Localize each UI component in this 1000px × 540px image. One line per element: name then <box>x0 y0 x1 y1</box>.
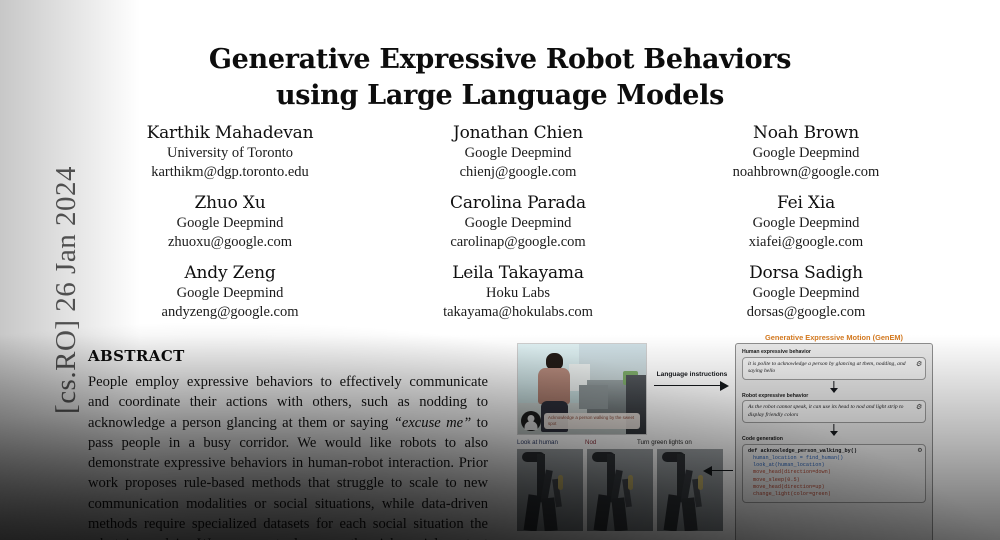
language-instructions-arrow: Language instructions <box>652 371 732 397</box>
gear-icon[interactable]: ⚙ <box>915 361 922 368</box>
author-entry: Andy Zeng Google Deepmind andyzeng@googl… <box>86 263 374 322</box>
abstract-italic-phrase: “excuse me” <box>394 415 472 431</box>
author-affiliation: Google Deepmind <box>374 144 662 163</box>
code-line: move_head(direction=down) <box>748 469 913 476</box>
arxiv-stamp: [cs.RO] 26 Jan 2024 <box>44 140 88 440</box>
author-entry: Zhuo Xu Google Deepmind zhuoxu@google.co… <box>86 193 374 252</box>
person-torso <box>538 368 570 404</box>
robot-behavior-text: As the robot cannot speak, it can use it… <box>748 404 903 418</box>
teaser-figure: Acknowledge a person walking by the swee… <box>517 343 932 540</box>
author-affiliation: Google Deepmind <box>662 214 950 233</box>
author-affiliation: Google Deepmind <box>662 144 950 163</box>
abstract-heading: ABSTRACT <box>88 347 488 365</box>
author-name: Carolina Parada <box>374 193 662 214</box>
human-behavior-label: Human expressive behavior <box>742 349 926 355</box>
flow-arrow-down <box>736 380 932 393</box>
author-name: Fei Xia <box>662 193 950 214</box>
robot-base <box>524 494 542 531</box>
human-behavior-section: Human expressive behavior it is polite t… <box>742 349 926 380</box>
abstract-section: ABSTRACT People employ expressive behavi… <box>88 347 488 540</box>
robot-behavior-section: Robot expressive behavior As the robot c… <box>742 393 926 424</box>
abstract-part-2: to pass people in a busy corridor. We wo… <box>88 415 488 540</box>
frame-caption-lights: Turn green lights on <box>637 438 692 447</box>
author-name: Dorsa Sadigh <box>662 263 950 284</box>
title-line-1: Generative Expressive Robot Behaviors <box>0 42 1000 78</box>
gear-icon[interactable]: ⚙ <box>915 404 922 411</box>
code-generation-box: ⚙ def acknowledge_person_walking_by() hu… <box>742 444 926 503</box>
arrow-shaft <box>654 385 722 386</box>
robot-gripper <box>698 475 703 490</box>
paper-page: [cs.RO] 26 Jan 2024 Generative Expressiv… <box>0 0 1000 540</box>
code-line: def acknowledge_person_walking_by() <box>748 448 913 455</box>
author-row: Zhuo Xu Google Deepmind zhuoxu@google.co… <box>86 193 950 252</box>
robot-gripper <box>558 475 563 490</box>
abstract-body: People employ expressive behaviors to ef… <box>88 372 488 540</box>
arrow-head-icon <box>703 466 712 476</box>
author-affiliation: Google Deepmind <box>662 284 950 303</box>
code-line: human_location = find_human() <box>748 455 913 462</box>
code-generation-section: Code generation ⚙ def acknowledge_person… <box>742 436 926 503</box>
human-behavior-text: it is polite to acknowledge a person by … <box>748 361 906 375</box>
author-email: takayama@hokulabs.com <box>374 303 662 322</box>
author-email: xiafei@google.com <box>662 233 950 252</box>
genem-panel: Generative Expressive Motion (GenEM) Hum… <box>735 343 933 540</box>
arrow-head-icon <box>830 431 838 436</box>
frame-caption-row: Look at human <box>517 438 649 447</box>
robot-frame <box>587 449 653 531</box>
author-name: Leila Takayama <box>374 263 662 284</box>
author-email: carolinap@google.com <box>374 233 662 252</box>
author-email: dorsas@google.com <box>662 303 950 322</box>
page-title: Generative Expressive Robot Behaviors us… <box>0 42 1000 114</box>
figure-left-column: Acknowledge a person walking by the swee… <box>517 343 649 531</box>
author-row: Andy Zeng Google Deepmind andyzeng@googl… <box>86 263 950 322</box>
author-affiliation: Hoku Labs <box>374 284 662 303</box>
robot-base <box>594 494 612 531</box>
arrow-head-icon <box>830 388 838 393</box>
robot-frame <box>657 449 723 531</box>
author-email: zhuoxu@google.com <box>86 233 374 252</box>
author-name: Jonathan Chien <box>374 123 662 144</box>
code-generation-label: Code generation <box>742 436 926 442</box>
genem-title: Generative Expressive Motion (GenEM) <box>736 333 932 342</box>
feedback-arrow <box>703 465 733 477</box>
author-affiliation: Google Deepmind <box>86 214 374 233</box>
code-line: move_head(direction=up) <box>748 484 913 491</box>
speech-bubble-row: Acknowledge a person walking by the swee… <box>521 411 640 431</box>
robot-base <box>664 494 682 531</box>
code-line: look_at(human_location) <box>748 462 913 469</box>
robot-behavior-label: Robot expressive behavior <box>742 393 926 399</box>
author-name: Noah Brown <box>662 123 950 144</box>
author-name: Andy Zeng <box>86 263 374 284</box>
author-list: Karthik Mahadevan University of Toronto … <box>86 123 950 333</box>
user-avatar-icon <box>521 411 541 431</box>
scene-photo: Acknowledge a person walking by the swee… <box>517 343 647 435</box>
robot-gripper <box>628 475 633 490</box>
arrow-shaft <box>709 470 733 471</box>
speech-bubble: Acknowledge a person walking by the swee… <box>544 413 640 429</box>
author-email: andyzeng@google.com <box>86 303 374 322</box>
author-email: noahbrown@google.com <box>662 163 950 182</box>
author-name: Zhuo Xu <box>86 193 374 214</box>
author-name: Karthik Mahadevan <box>86 123 374 144</box>
robot-behavior-box: As the robot cannot speak, it can use it… <box>742 400 926 423</box>
author-entry: Fei Xia Google Deepmind xiafei@google.co… <box>662 193 950 252</box>
author-email: chienj@google.com <box>374 163 662 182</box>
author-entry: Jonathan Chien Google Deepmind chienj@go… <box>374 123 662 182</box>
language-instructions-label: Language instructions <box>652 371 732 378</box>
gear-icon[interactable]: ⚙ <box>918 448 922 455</box>
author-row: Karthik Mahadevan University of Toronto … <box>86 123 950 182</box>
author-entry: Leila Takayama Hoku Labs takayama@hokula… <box>374 263 662 322</box>
author-affiliation: Google Deepmind <box>86 284 374 303</box>
author-affiliation: Google Deepmind <box>374 214 662 233</box>
author-entry: Karthik Mahadevan University of Toronto … <box>86 123 374 182</box>
photo-counter-secondary <box>579 385 607 408</box>
author-entry: Noah Brown Google Deepmind noahbrown@goo… <box>662 123 950 182</box>
title-line-2: using Large Language Models <box>0 78 1000 114</box>
author-email: karthikm@dgp.toronto.edu <box>86 163 374 182</box>
code-line: change_light(color=green) <box>748 491 913 498</box>
author-affiliation: University of Toronto <box>86 144 374 163</box>
author-entry: Dorsa Sadigh Google Deepmind dorsas@goog… <box>662 263 950 322</box>
frame-caption-look: Look at human <box>517 438 649 447</box>
frame-caption-nod: Nod <box>585 438 596 447</box>
flow-arrow-down <box>736 423 932 436</box>
human-behavior-box: it is polite to acknowledge a person by … <box>742 357 926 380</box>
arrow-head-icon <box>720 381 729 391</box>
code-line: move_sleep(0.5) <box>748 477 913 484</box>
robot-frame <box>517 449 583 531</box>
robot-frame-strip <box>517 449 727 531</box>
author-entry: Carolina Parada Google Deepmind carolina… <box>374 193 662 252</box>
